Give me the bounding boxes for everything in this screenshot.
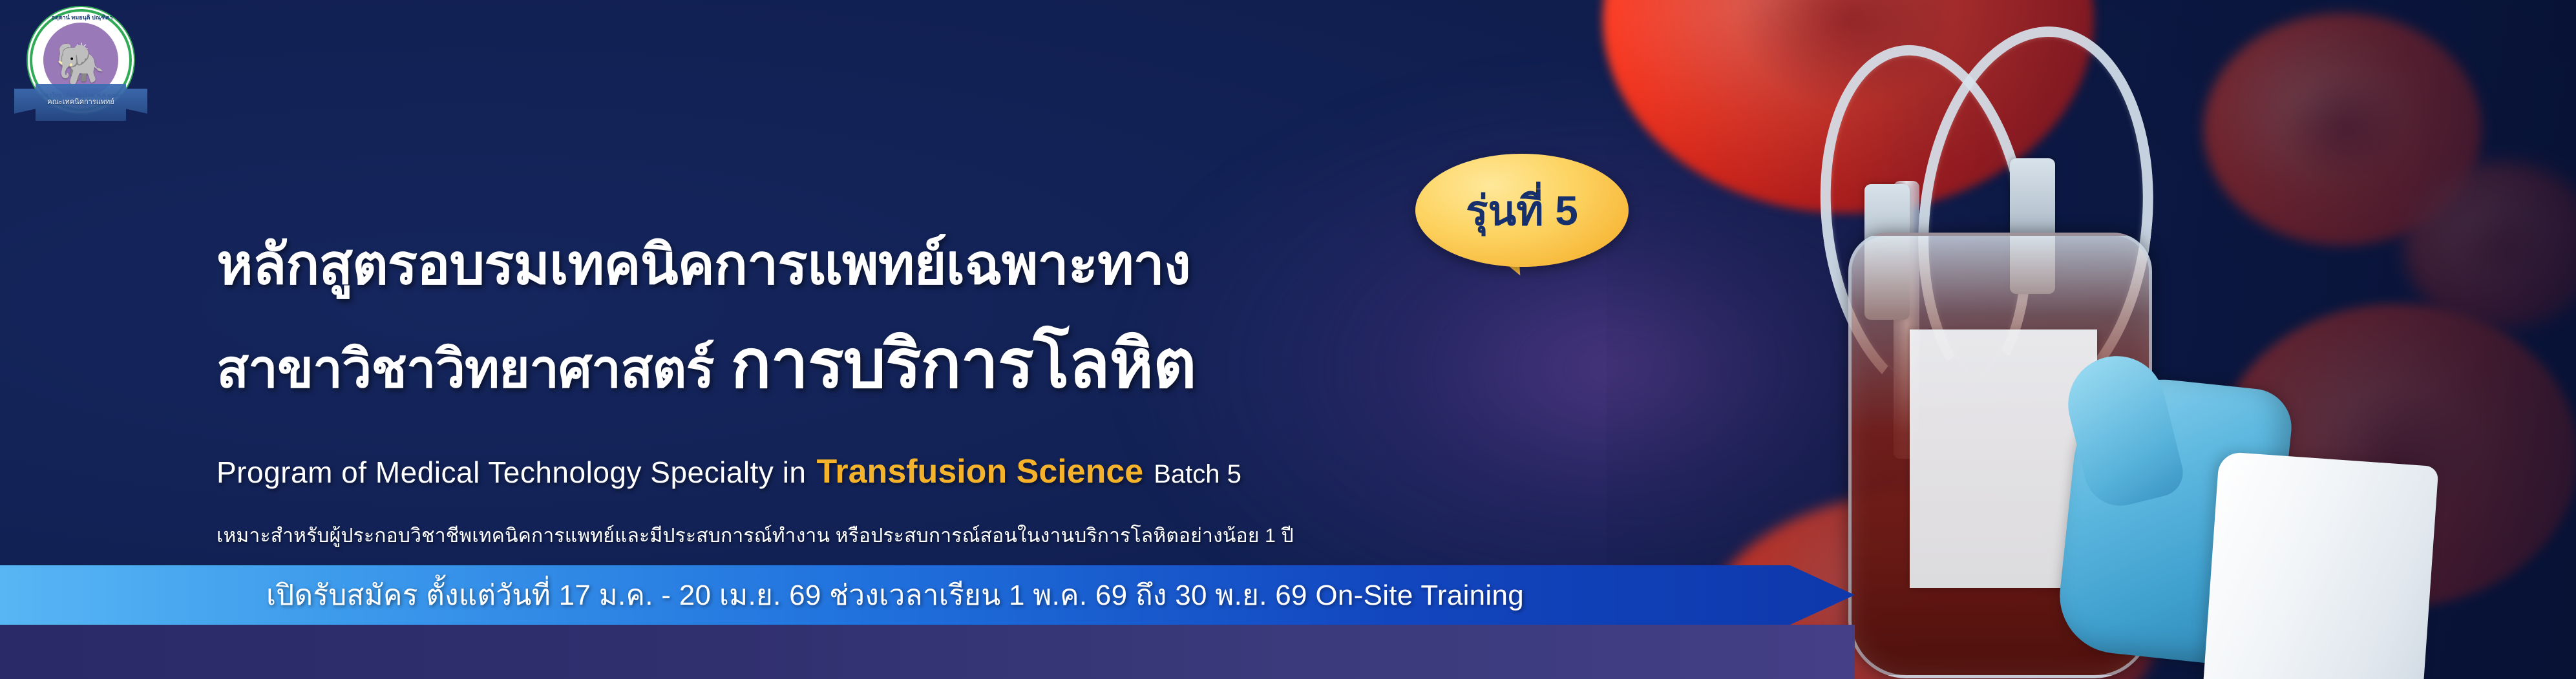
eligibility-note: เหมาะสำหรับผู้ประกอบวิชาชีพเทคนิคการแพทย… <box>216 521 1294 551</box>
headline-line-2-emphasis: การบริการโลหิต <box>731 327 1196 402</box>
headline-line-2: สาขาวิชาวิทยาศาสตร์การบริการโลหิต <box>216 310 1196 417</box>
logo-faculty-name: คณะเทคนิคการแพทย์ <box>14 96 147 107</box>
bottom-strip <box>0 625 1855 679</box>
elephant-icon: 🐘 <box>56 45 105 85</box>
batch-badge-label: รุ่นที่ 5 <box>1415 154 1629 267</box>
logo-motto-text: อตฺตานํ ทมยนฺติ ปณฺฑิตา <box>14 13 150 22</box>
english-subtitle-highlight: Transfusion Science <box>817 453 1144 490</box>
headline-line-1: หลักสูตรอบรมเทคนิคการแพทย์เฉพาะทาง <box>216 220 1190 308</box>
cmu-faculty-logo: ✳ 🐘 อตฺตานํ ทมยนฺติ ปณฺฑิตา มหาวิทยาลัยเ… <box>14 8 150 131</box>
lab-coat-sleeve <box>2201 452 2438 679</box>
blood-bag-illustration <box>1797 19 2288 672</box>
promotional-banner: ✳ 🐘 อตฺตานํ ทมยนฺติ ปณฺฑิตา มหาวิทยาลัยเ… <box>0 0 2576 679</box>
english-subtitle: Program of Medical Technology Specialty … <box>216 452 1241 491</box>
english-subtitle-batch: Batch 5 <box>1154 460 1241 488</box>
registration-ribbon-text: เปิดรับสมัคร ตั้งแต่วันที่ 17 ม.ค. - 20 … <box>0 565 1790 625</box>
headline-line-2-prefix: สาขาวิชาวิทยาศาสตร์ <box>216 340 714 399</box>
english-subtitle-prefix: Program of Medical Technology Specialty … <box>216 455 807 489</box>
